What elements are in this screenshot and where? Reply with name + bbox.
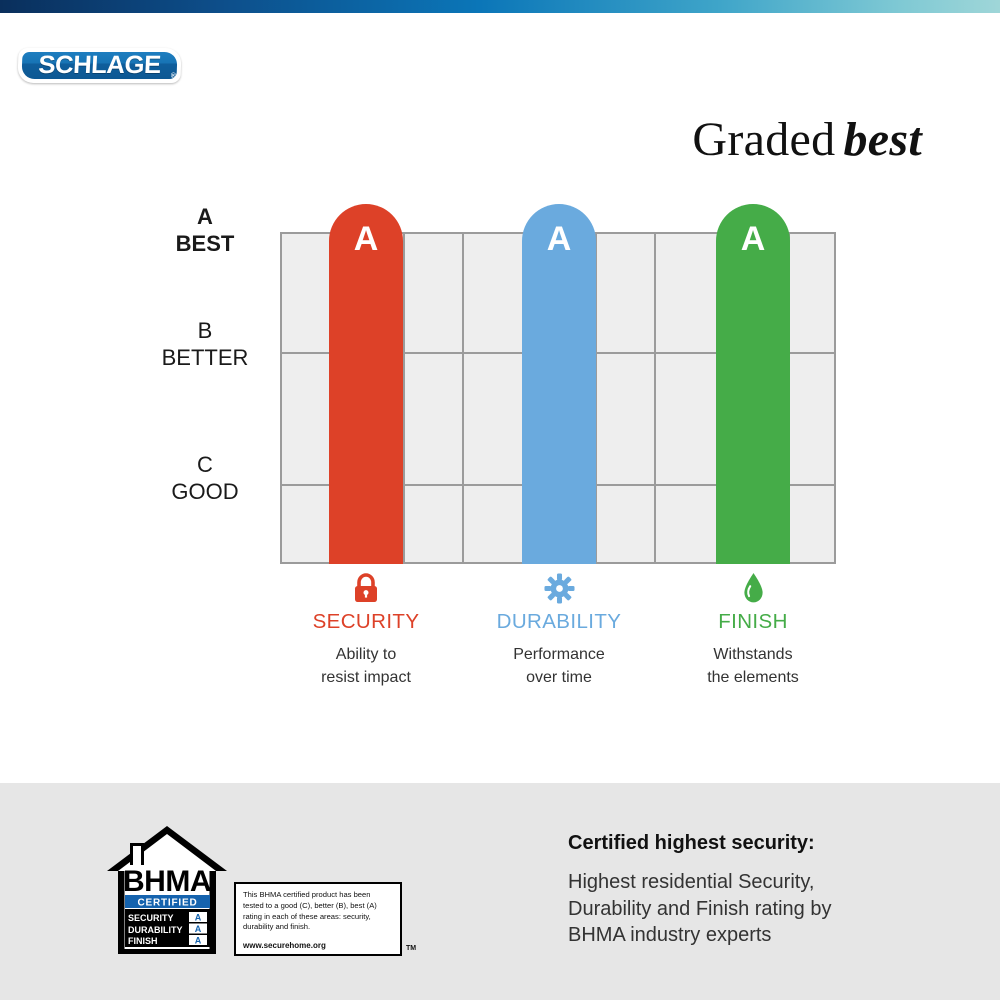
page-title: Gradedbest [692,112,922,167]
top-accent-bar [0,0,1000,13]
bar-security: A [329,204,403,564]
bar-durability: A [522,204,596,564]
svg-text:A: A [195,913,202,923]
category-desc-finish: Withstands the elements [658,643,848,689]
category-desc-security-line2: resist impact [321,669,411,686]
bhma-house-graphic: BHMA CERTIFIED SECURITY DURABILITY FINIS… [104,823,230,958]
gear-icon [464,572,654,604]
lock-icon [271,572,461,604]
footer-text-block: Certified highest security: Highest resi… [568,832,968,949]
gridline-vertical-3 [462,232,464,564]
grade-bar-chart: A A A [280,232,836,564]
droplet-icon [658,572,848,604]
category-desc-finish-line2: the elements [707,669,799,686]
bhma-certification-mark: BHMA CERTIFIED SECURITY DURABILITY FINIS… [104,823,334,958]
category-desc-durability-line1: Performance [513,646,605,663]
bar-value-finish: A [716,204,790,256]
gridline-vertical-7 [834,232,836,564]
schlage-logo: SCHLAGE ® [18,48,181,83]
chart-category-legend: SECURITY Ability to resist impact [280,572,836,702]
bar-value-durability: A [522,204,596,256]
category-desc-finish-line1: Withstands [713,646,792,663]
footer-body: Highest residential Security, Durability… [568,869,968,949]
svg-text:A: A [195,936,202,946]
gridline-vertical-2 [403,232,405,564]
category-desc-durability: Performance over time [464,643,654,689]
category-title-finish: FINISH [658,610,848,634]
bar-finish: A [716,204,790,564]
svg-text:DURABILITY: DURABILITY [128,925,183,935]
logo-wordmark: SCHLAGE [15,48,185,83]
y-axis-label-b: B BETTER [140,318,270,372]
category-desc-durability-line2: over time [526,669,592,686]
footer-heading: Certified highest security: [568,832,968,855]
y-axis-word-better: BETTER [140,345,270,372]
y-axis-grade-b: B [140,318,270,345]
y-axis-grade-c: C [140,452,270,479]
category-desc-security-line1: Ability to [336,646,396,663]
y-axis-word-best: BEST [140,231,270,258]
page-title-part2: best [843,113,922,166]
y-axis-grade-a: A [140,204,270,231]
bhma-url[interactable]: www.securehome.org [243,940,393,951]
svg-text:BHMA: BHMA [123,865,211,898]
category-title-durability: DURABILITY [464,610,654,634]
registered-trademark-icon: ® [171,73,176,80]
category-title-security: SECURITY [271,610,461,634]
svg-text:SECURITY: SECURITY [128,913,174,923]
gridline-vertical-5 [654,232,656,564]
category-security: SECURITY Ability to resist impact [271,572,461,689]
bhma-description-box: This BHMA certified product has been tes… [234,882,402,956]
category-desc-security: Ability to resist impact [271,643,461,689]
category-durability: DURABILITY Performance over time [464,572,654,689]
svg-text:CERTIFIED: CERTIFIED [138,898,198,909]
y-axis-word-good: GOOD [140,479,270,506]
y-axis-label-c: C GOOD [140,452,270,506]
footer-body-line1: Highest residential Security, [568,871,814,893]
bar-value-security: A [329,204,403,256]
page-title-part1: Graded [692,113,835,166]
bhma-trademark-label: TM [406,945,416,952]
svg-text:A: A [195,924,202,934]
footer-body-line3: BHMA industry experts [568,924,771,946]
svg-text:FINISH: FINISH [128,936,158,946]
bhma-description-text: This BHMA certified product has been tes… [243,890,393,933]
y-axis-label-a: A BEST [140,204,270,258]
category-finish: FINISH Withstands the elements [658,572,848,689]
footer-body-line2: Durability and Finish rating by [568,898,831,920]
gridline-vertical-1 [280,232,282,564]
